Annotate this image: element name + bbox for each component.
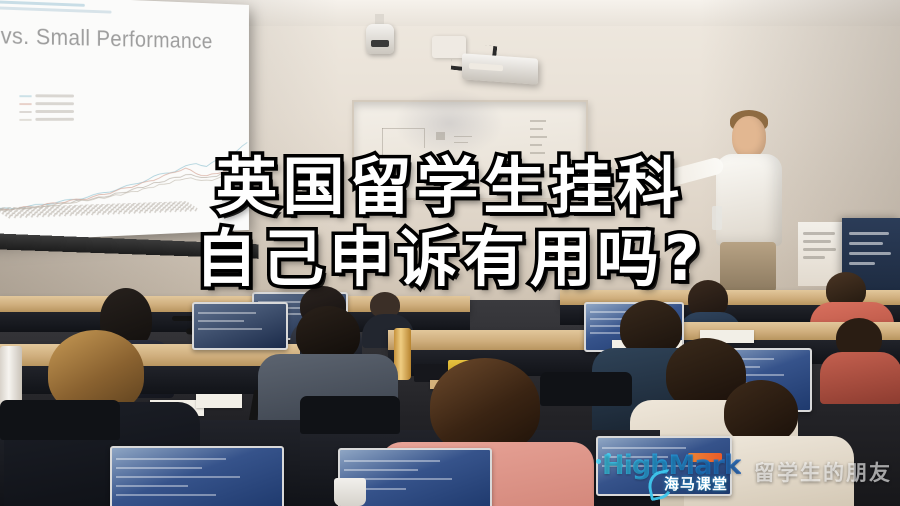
laptop [192,302,284,346]
chart-legend [19,94,74,126]
laptop-screen [596,436,732,496]
chair [0,400,120,440]
ceiling-camera-icon [366,24,394,54]
desk-row-mid [388,330,598,350]
whiteboard [352,100,588,200]
laptop-screen [110,446,284,506]
instructor [690,108,810,290]
laptop [596,436,728,492]
coffee-cup [334,478,366,506]
chair [300,396,400,434]
instructor-head [732,116,766,158]
legend-item [19,110,74,113]
legend-item [19,118,74,121]
whiteboard-glare [394,88,504,158]
laptop-screen [192,302,288,350]
ceiling-projector-icon [462,53,538,84]
paper-sheet [196,394,242,408]
instructor-shirt [716,154,782,246]
laptop [110,446,280,506]
slide-header-lines [0,0,124,16]
instructor-hand [654,158,669,172]
legend-item [19,94,74,97]
water-bottle [712,206,722,230]
promo-image-canvas: rge vs. Small Performance [0,0,900,506]
chair [540,372,632,406]
slide-title: rge vs. Small Performance [0,21,249,55]
instructor-trousers [720,242,776,292]
projector-screen: rge vs. Small Performance [0,0,249,242]
legend-item [19,102,74,105]
